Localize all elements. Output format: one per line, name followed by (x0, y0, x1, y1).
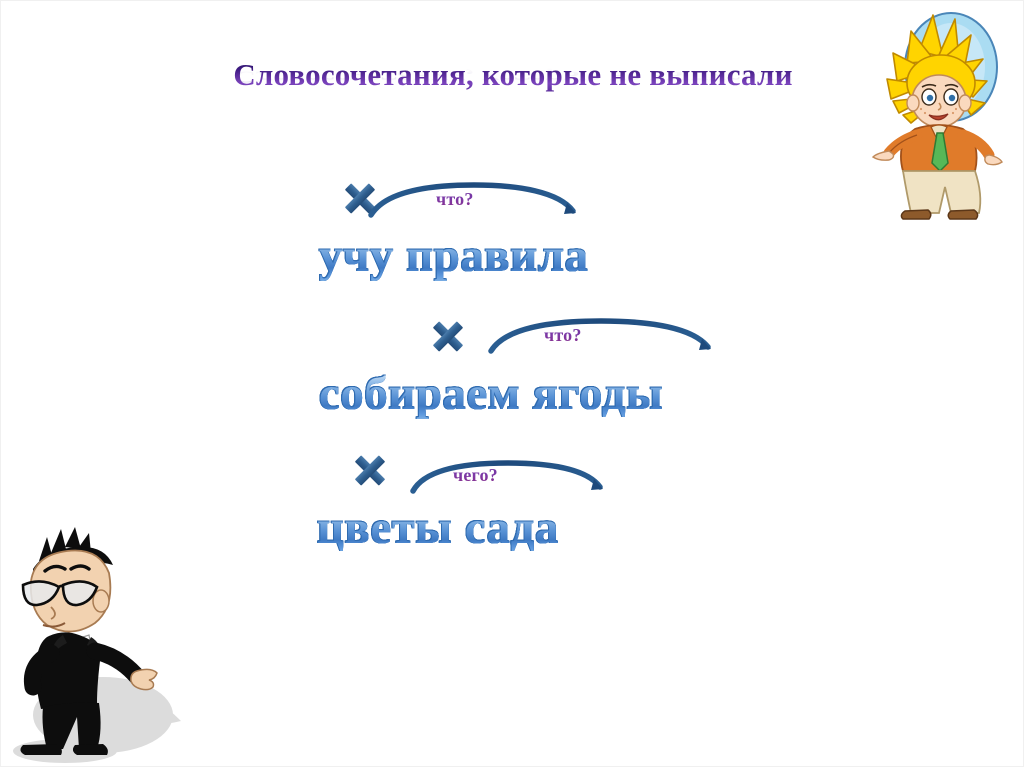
question-word-2: что? (544, 325, 582, 346)
character-neznaika-boy (859, 5, 1019, 221)
x-mark-icon-2 (431, 319, 465, 353)
question-word-3: чего? (453, 465, 498, 486)
neznaika-illustration (859, 5, 1019, 221)
slide-canvas: Словосочетания, которые не выписали Слов… (0, 0, 1024, 767)
phrase-text-3: цветы сада (317, 501, 559, 555)
character-znayka-professor (7, 519, 207, 767)
question-word-1: что? (436, 189, 474, 210)
phrase-row-1: что? учу правила (319, 171, 719, 291)
page-title: Словосочетания, которые не выписали (233, 59, 792, 92)
phrase-row-2: что? собираем ягоды (319, 309, 749, 429)
dependency-arc-2 (487, 319, 717, 355)
phrase-row-3: чего? цветы сада (317, 443, 717, 563)
dependency-arc-1 (367, 183, 582, 219)
phrase-text-2: собираем ягоды (319, 367, 663, 421)
znayka-illustration (7, 519, 207, 767)
phrase-text-1: учу правила (319, 229, 589, 283)
x-mark-icon-3 (353, 453, 387, 487)
dependency-arc-3 (409, 461, 609, 495)
